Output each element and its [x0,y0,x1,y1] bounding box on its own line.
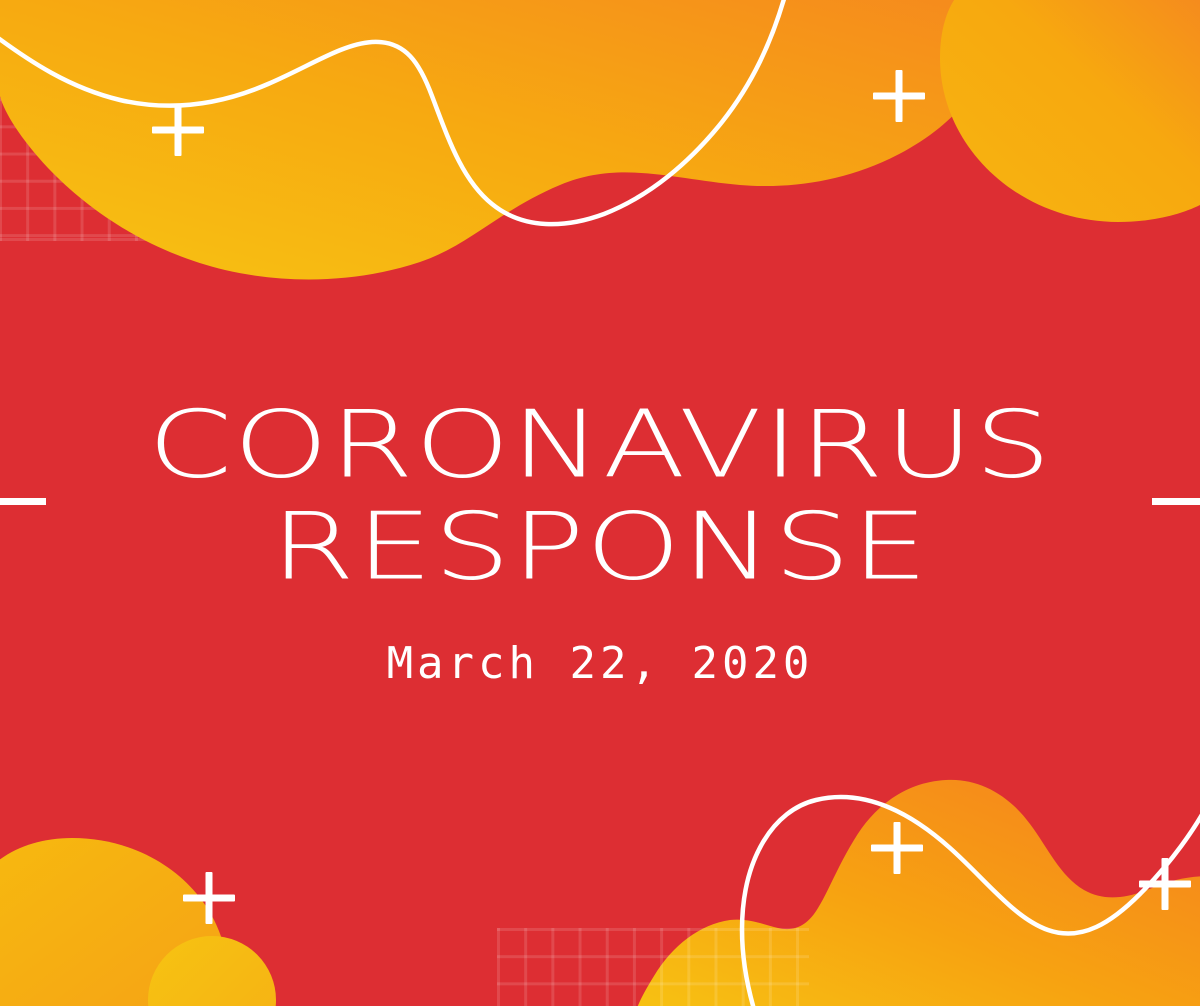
plus-bottom-center-icon [871,822,923,874]
decorative-wave-lines [0,0,1200,1006]
plus-bottom-right-icon [1139,858,1191,910]
decorative-blobs [0,0,1200,1006]
plus-top-left-icon [152,104,204,156]
coronavirus-response-poster: CORONAVIRUS RESPONSE March 22, 2020 [0,0,1200,1006]
blob-top-left-shape [0,0,1020,279]
blob-bottom-right-shape [634,780,1200,1006]
background-field [0,0,1200,1006]
blob-top-right-shape [940,0,1200,222]
blob-bottom-left-small-circle [148,936,276,1006]
plus-bottom-left-icon [183,872,235,924]
page-title-line-2: RESPONSE [271,500,929,593]
edge-dash-right [1152,498,1200,505]
wave-line-bottom [742,797,1200,1006]
page-title-line-1: CORONAVIRUS [148,398,1053,491]
grid-pattern-top-left [0,72,352,241]
poster-text-block: CORONAVIRUS RESPONSE March 22, 2020 [0,0,1200,1006]
edge-dash-left [0,498,46,505]
wave-line-top [0,0,786,224]
plus-top-right-icon [873,70,925,122]
poster-date: March 22, 2020 [387,640,814,688]
grid-pattern-bottom-center [497,928,809,1006]
blob-bottom-left-shape [0,838,228,1006]
